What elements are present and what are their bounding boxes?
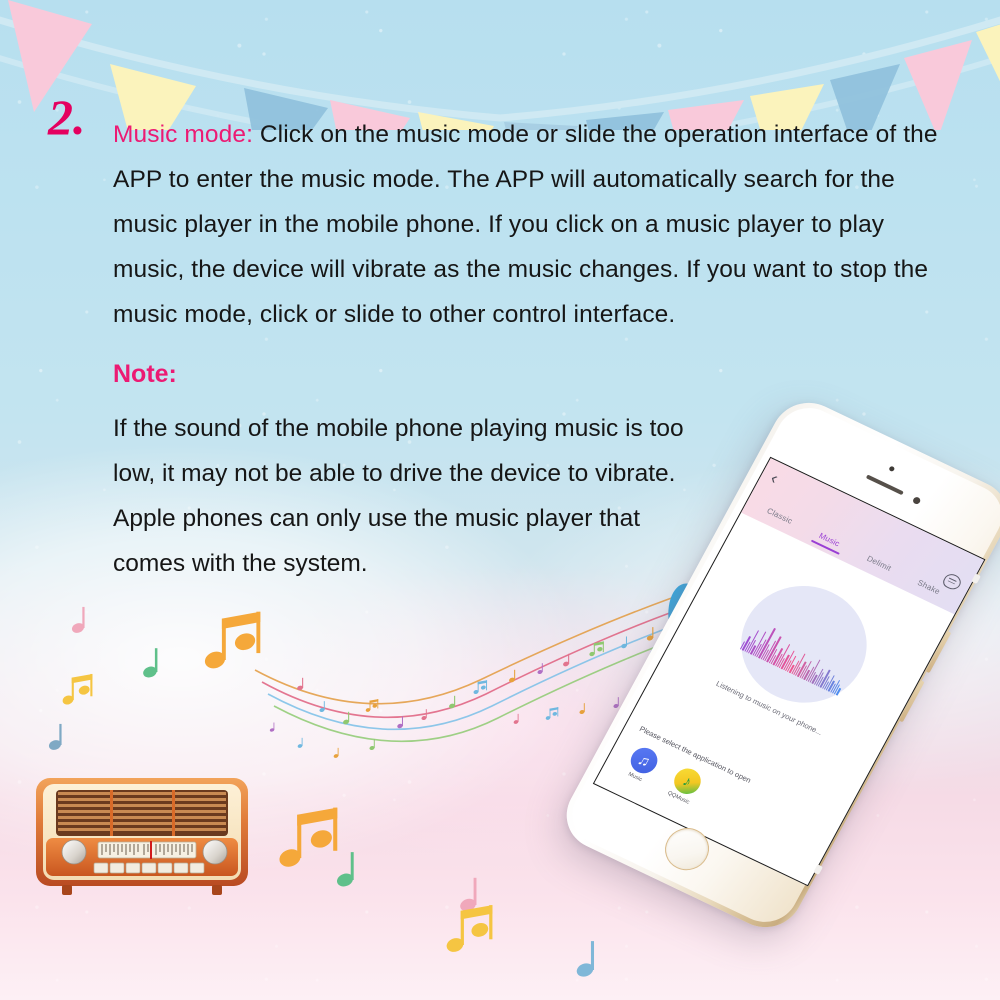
app-option-music[interactable]: ♫ Music (618, 742, 665, 787)
phone-body: ‹ Classic Music Delimit Shake Listening … (554, 391, 1000, 939)
app-option-qqmusic[interactable]: ♪ QQMusic (662, 763, 709, 808)
note-large-2 (277, 808, 337, 870)
tab-classic[interactable]: Classic (750, 500, 806, 536)
note-small-green-2 (335, 852, 355, 888)
step-paragraph-body: Click on the music mode or slide the ope… (113, 121, 938, 328)
tab-delimit[interactable]: Delimit (850, 548, 906, 584)
phone-mockup: ‹ Classic Music Delimit Shake Listening … (575, 405, 1000, 965)
bunting-decoration (0, 0, 1000, 130)
note-large-1 (203, 612, 261, 671)
phone-bezel: ‹ Classic Music Delimit Shake Listening … (561, 398, 1000, 933)
step-number: 2. (48, 92, 86, 142)
note-title: Note: (113, 360, 177, 389)
page-root: 2. Music mode: Click on the music mode o… (0, 0, 1000, 1000)
step-paragraph: Music mode: Click on the music mode or s… (113, 112, 943, 337)
note-small-green-1 (142, 648, 159, 679)
proximity-sensor-icon (888, 466, 895, 473)
note-small-yellow-1 (61, 674, 92, 706)
tab-music[interactable]: Music (800, 524, 856, 560)
front-camera-icon (912, 496, 922, 505)
note-small-blue-1 (48, 724, 63, 752)
back-button[interactable]: ‹ (768, 469, 781, 486)
note-small-pink-1 (71, 607, 86, 635)
note-large-3 (445, 905, 493, 954)
note-small-pink-2 (458, 878, 477, 914)
step-lead-label: Music mode: (113, 121, 253, 148)
earpiece-speaker (866, 474, 904, 495)
